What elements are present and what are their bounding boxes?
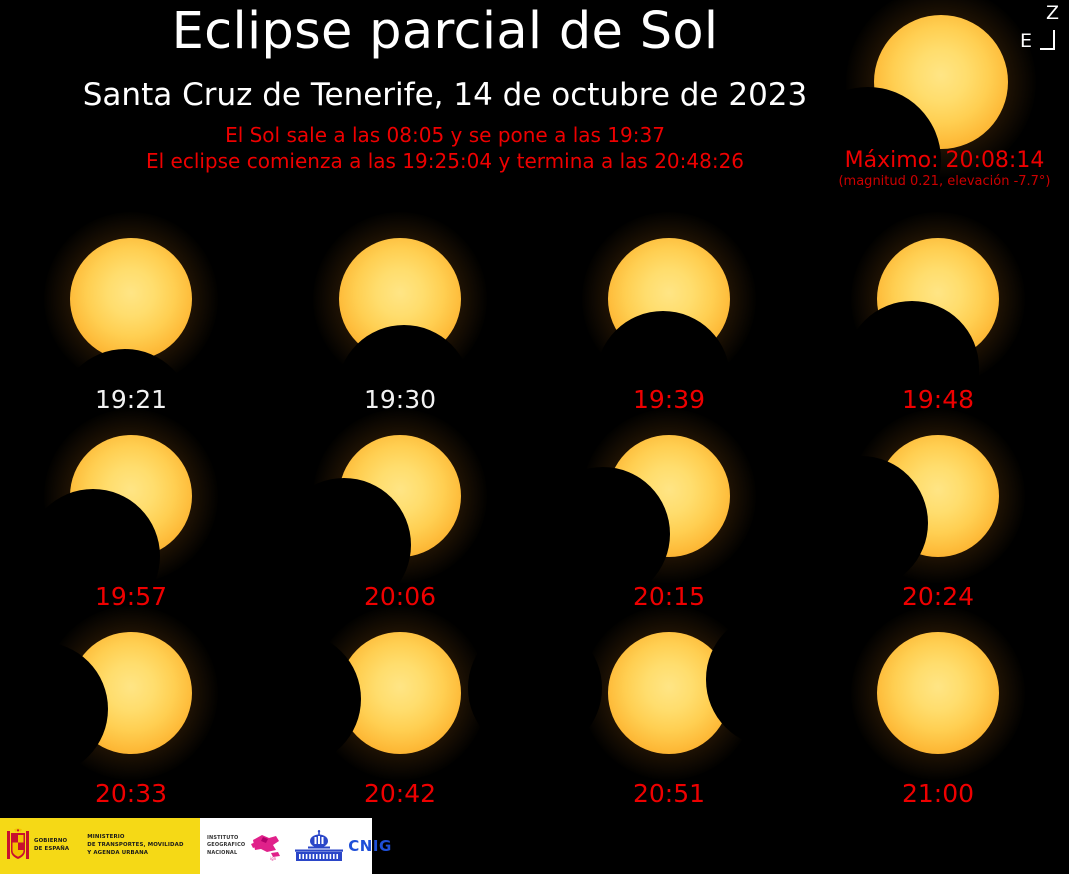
frame-time-label: 20:42 xyxy=(300,781,500,806)
footer-logo-bar: GOBIERNO DE ESPAÑA MINISTERIO DE TRANSPO… xyxy=(0,818,372,874)
frame-time-label: 20:24 xyxy=(838,584,1038,609)
moon-shadow-20:24 xyxy=(794,456,928,590)
page-subtitle: Santa Cruz de Tenerife, 14 de octubre de… xyxy=(0,78,890,112)
frame-time-label: 20:33 xyxy=(31,781,231,806)
frame-time-label: 19:30 xyxy=(300,387,500,412)
max-eclipse-time: Máximo: 20:08:14 xyxy=(820,148,1069,174)
frame-time-label: 20:06 xyxy=(300,584,500,609)
max-eclipse-info: Máximo: 20:08:14 (magnitud 0.21, elevaci… xyxy=(820,148,1069,190)
orientation-compass-icon: Z E xyxy=(1012,2,1067,60)
moon-shadow-20:42 xyxy=(227,632,361,766)
zenith-label: Z xyxy=(1046,4,1059,23)
moon-shadow-21:00 xyxy=(706,612,840,746)
sunrise-sunset-line: El Sol sale a las 08:05 y se pone a las … xyxy=(0,124,890,147)
compass-horizontal-bar xyxy=(1040,48,1055,50)
eclipse-poster: Eclipse parcial de Sol Santa Cruz de Ten… xyxy=(0,0,1069,874)
frame-time-label: 21:00 xyxy=(838,781,1038,806)
page-title: Eclipse parcial de Sol xyxy=(0,4,890,59)
frame-time-label: 20:15 xyxy=(569,584,769,609)
compass-vertical-bar xyxy=(1053,30,1055,50)
gobierno-label: GOBIERNO DE ESPAÑA xyxy=(34,838,69,853)
cnig-label: CNIG xyxy=(348,837,391,855)
ign-cnig-block: INSTITUTO GEOGRAFICO NACIONAL ign xyxy=(200,818,372,874)
moon-shadow-19:39 xyxy=(596,311,730,445)
frame-time-label: 19:21 xyxy=(31,387,231,412)
max-eclipse-detail: (magnitud 0.21, elevación -7.7°) xyxy=(820,174,1069,190)
eclipse-times-line: El eclipse comienza a las 19:25:04 y ter… xyxy=(0,150,890,173)
sun-disk-21:00 xyxy=(877,632,999,754)
ign-label: INSTITUTO GEOGRAFICO NACIONAL xyxy=(207,835,245,856)
frame-time-label: 19:39 xyxy=(569,387,769,412)
gobierno-ministerio-block: GOBIERNO DE ESPAÑA MINISTERIO DE TRANSPO… xyxy=(0,818,200,874)
moon-shadow-20:15 xyxy=(536,467,670,601)
moon-shadow-20:51 xyxy=(468,621,602,755)
svg-text:ign: ign xyxy=(270,856,277,861)
spain-coat-of-arms-icon xyxy=(6,827,30,865)
east-label: E xyxy=(1020,32,1032,51)
ign-building-icon xyxy=(293,830,345,862)
ministerio-label: MINISTERIO DE TRANSPORTES, MOVILIDAD Y A… xyxy=(87,834,183,857)
frame-time-label: 20:51 xyxy=(569,781,769,806)
moon-shadow-19:48 xyxy=(845,301,979,435)
frame-time-label: 19:57 xyxy=(31,584,231,609)
sun-disk-19:21 xyxy=(70,238,192,360)
frame-time-label: 19:48 xyxy=(838,387,1038,412)
ign-spain-map-icon: ign xyxy=(249,831,285,861)
